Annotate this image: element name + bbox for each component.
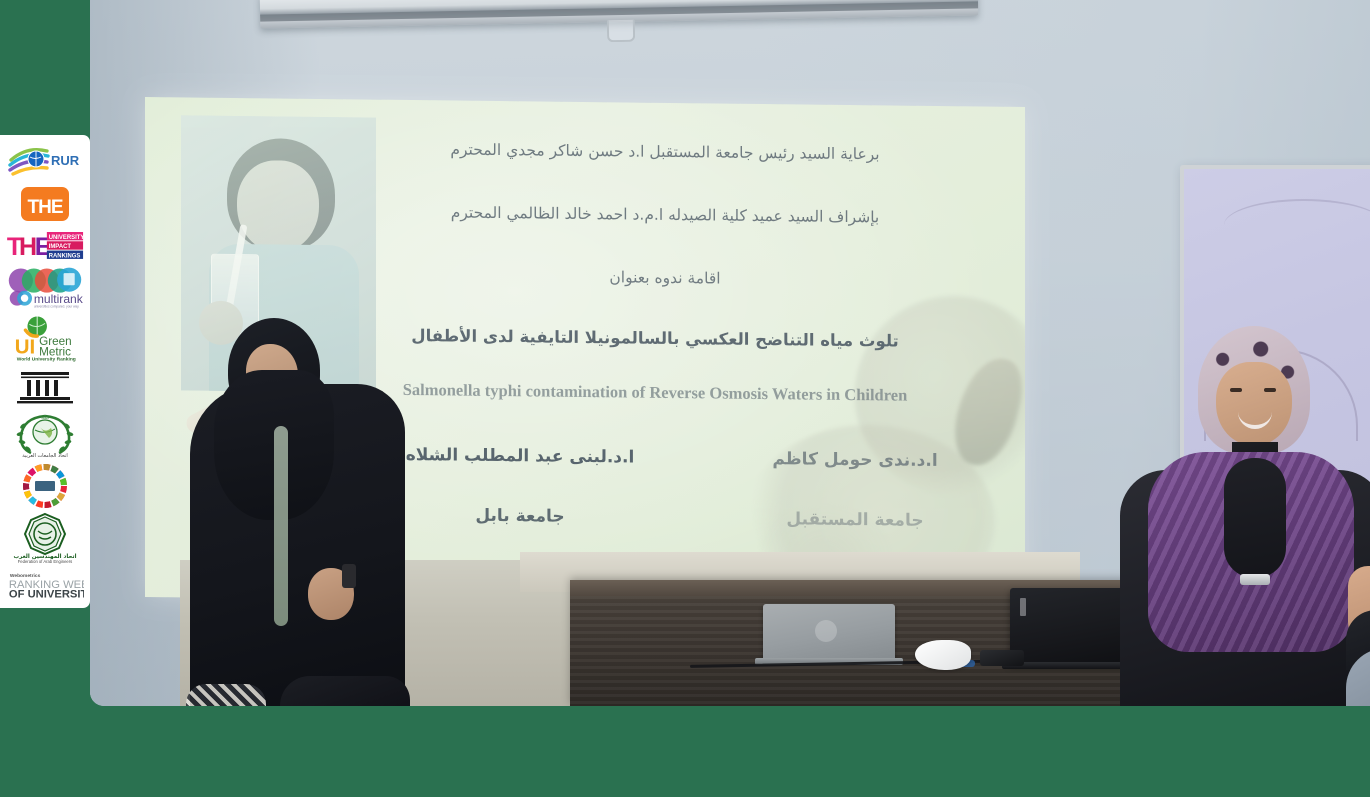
association-of-arab-universities-logo: اتحاد اتحاد الجامعات العربية [6, 409, 84, 461]
light-scarf-strip [274, 426, 288, 626]
laptop-logo-badge [815, 620, 837, 642]
woman-in-black-abaya [190, 318, 405, 706]
u-multirank-logo: multirank universities compared. your wa… [6, 265, 84, 311]
times-higher-education-logo: THE [6, 183, 84, 225]
slide-patronage-line: برعاية السيد رئيس جامعة المستقبل ا.د حسن… [345, 139, 985, 164]
eye [1230, 388, 1242, 392]
seated-attendee-left-pattern [186, 684, 266, 706]
woman-with-purple-scarf [1120, 330, 1370, 706]
svg-text:UNIVERSITY: UNIVERSITY [49, 235, 84, 241]
slide-event-line: اقامة ندوه بعنوان [345, 265, 985, 290]
svg-text:IMPACT: IMPACT [49, 244, 72, 250]
seminar-lecture-hall-photo: برعاية السيد رئيس جامعة المستقبل ا.د حسن… [90, 0, 1370, 706]
the-university-impact-rankings-logo: T H E UNIVERSITY IMPACT RANKINGS [6, 227, 84, 263]
ui-greenmetric-logo: UI Green Metric World University Ranking [6, 313, 84, 363]
footer-banner [0, 706, 1370, 797]
slide-presenter-right-affiliation: جامعة المستقبل [705, 508, 1005, 531]
scarf-opening [1224, 458, 1286, 578]
accreditation-sidebar: RUR THE T H E UNIVERSITY IMPAC [0, 0, 90, 797]
svg-text:UI: UI [15, 336, 35, 359]
slide-english-title: Salmonella typhi contamination of Revers… [315, 377, 995, 409]
svg-text:World University Ranking: World University Ranking [17, 356, 76, 362]
projector-screen-hook [607, 20, 635, 42]
svg-text:RANKINGS: RANKINGS [49, 253, 81, 259]
whiteboard-marking [1224, 199, 1370, 251]
silver-laptop [763, 604, 895, 660]
svg-text:universities compared. your wa: universities compared. your way. [34, 305, 80, 309]
webometrics-ranking-web-of-universities-logo: Webometrics RANKING WEB OF UNIVERSITIES [6, 567, 84, 601]
unesco-columns-logo [6, 365, 84, 407]
crumpled-tissue [915, 640, 971, 670]
power-adapter [980, 650, 1024, 666]
svg-text:اتحاد الجامعات العربية: اتحاد الجامعات العربية [22, 453, 68, 459]
wristwatch [342, 564, 356, 588]
svg-text:اتحاد: اتحاد [41, 415, 49, 420]
svg-text:OF UNIVERSITIES: OF UNIVERSITIES [9, 589, 84, 599]
screenshot-root: برعاية السيد رئيس جامعة المستقبل ا.د حسن… [0, 0, 1370, 797]
svg-text:H: H [19, 233, 36, 261]
svg-text:THE: THE [28, 197, 63, 218]
slide-supervision-line: بإشراف السيد عميد كلية الصيدله ا.م.د احم… [345, 202, 985, 227]
slide-arabic-title: تلوث مياه التناضح العكسي بالسالمونيلا ال… [315, 325, 995, 352]
accreditation-logo-panel: RUR THE T H E UNIVERSITY IMPAC [0, 135, 90, 608]
federation-of-arab-engineers-logo: اتحاد المهندسين العرب Federation of Arab… [6, 511, 84, 565]
face [1216, 362, 1292, 446]
eye [1264, 388, 1276, 392]
sustainable-development-goals-logo [6, 463, 84, 509]
rur-ranking-logo: RUR [6, 141, 84, 181]
seated-attendee-left [280, 676, 410, 706]
laptop-brand-mark [1020, 598, 1026, 616]
brooch-pin [1240, 574, 1270, 585]
slide-presenter-right-name: ا.د.ندى حومل كاظم [705, 448, 1005, 471]
svg-text:Federation of Arab Engineers: Federation of Arab Engineers [18, 559, 72, 564]
svg-text:RUR: RUR [51, 153, 80, 168]
